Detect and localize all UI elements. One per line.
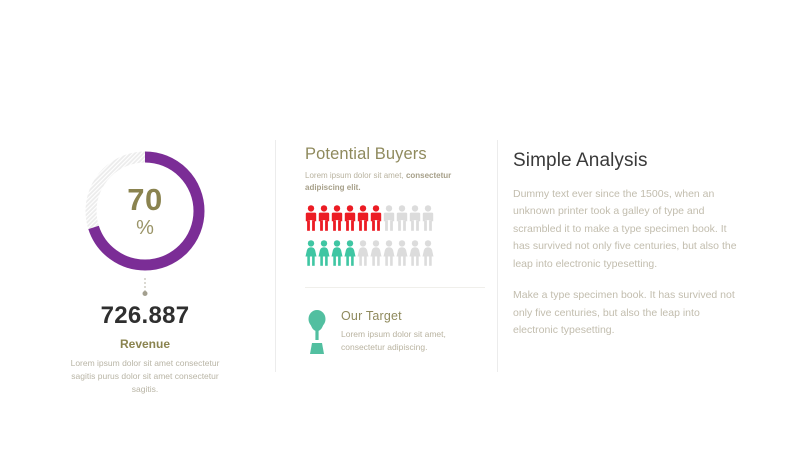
revenue-panel: 70 % 726.887 Revenue Lorem ipsum dolor s… — [20, 140, 270, 397]
simple-analysis-panel: Simple Analysis Dummy text ever since th… — [513, 150, 743, 339]
male-figure-icon — [396, 205, 408, 231]
section-divider — [305, 287, 485, 288]
female-figure-icon — [422, 240, 434, 266]
potential-buyers-subtitle: Lorem ipsum dolor sit amet, consectetur … — [305, 170, 477, 194]
connector-dot — [143, 291, 148, 296]
female-figure-icon — [344, 240, 356, 266]
female-figure-icon — [357, 240, 369, 266]
donut-value: 70 — [80, 184, 210, 215]
our-target-description: Lorem ipsum dolor sit amet, consectetur … — [341, 328, 461, 354]
donut-chart[interactable]: 70 % — [80, 146, 210, 276]
potential-buyers-panel: Potential Buyers Lorem ipsum dolor sit a… — [305, 145, 485, 359]
column-divider-left — [275, 140, 276, 372]
female-figure-icon — [305, 240, 317, 266]
male-figure-icon — [318, 205, 330, 231]
male-figure-icon — [370, 205, 382, 231]
pictogram-row-female — [305, 240, 485, 266]
donut-connector — [20, 276, 270, 302]
male-figure-icon — [344, 205, 356, 231]
female-figure-icon — [396, 240, 408, 266]
trophy-icon-svg — [305, 310, 329, 354]
female-figure-icon — [331, 240, 343, 266]
potential-buyers-title: Potential Buyers — [305, 145, 485, 164]
female-figure-icon — [318, 240, 330, 266]
male-figure-icon — [422, 205, 434, 231]
male-figure-icon — [331, 205, 343, 231]
male-figure-icon — [357, 205, 369, 231]
our-target-title: Our Target — [341, 309, 461, 323]
male-figure-icon — [409, 205, 421, 231]
female-figure-icon — [383, 240, 395, 266]
donut-center-label: 70 % — [80, 184, 210, 238]
our-target-text: Our Target Lorem ipsum dolor sit amet, c… — [341, 309, 461, 354]
kpi-label: Revenue — [20, 337, 270, 351]
kpi-description: Lorem ipsum dolor sit amet consectetur s… — [65, 357, 225, 397]
kpi-number: 726.887 — [20, 302, 270, 330]
analysis-paragraph-2: Make a type specimen book. It has surviv… — [513, 287, 743, 339]
female-figure-icon — [370, 240, 382, 266]
subtitle-normal-text: Lorem ipsum dolor sit amet, — [305, 171, 406, 180]
donut-unit: % — [80, 218, 210, 238]
male-figure-icon — [383, 205, 395, 231]
female-figure-icon — [409, 240, 421, 266]
slide-canvas: 70 % 726.887 Revenue Lorem ipsum dolor s… — [0, 0, 800, 450]
connector-dashed-line — [145, 278, 146, 292]
column-divider-right — [497, 140, 498, 372]
pictogram-row-male — [305, 205, 485, 231]
male-figure-icon — [305, 205, 317, 231]
simple-analysis-title: Simple Analysis — [513, 150, 743, 172]
analysis-paragraph-1: Dummy text ever since the 1500s, when an… — [513, 186, 743, 273]
trophy-icon — [305, 309, 329, 359]
our-target-block[interactable]: Our Target Lorem ipsum dolor sit amet, c… — [305, 309, 485, 359]
